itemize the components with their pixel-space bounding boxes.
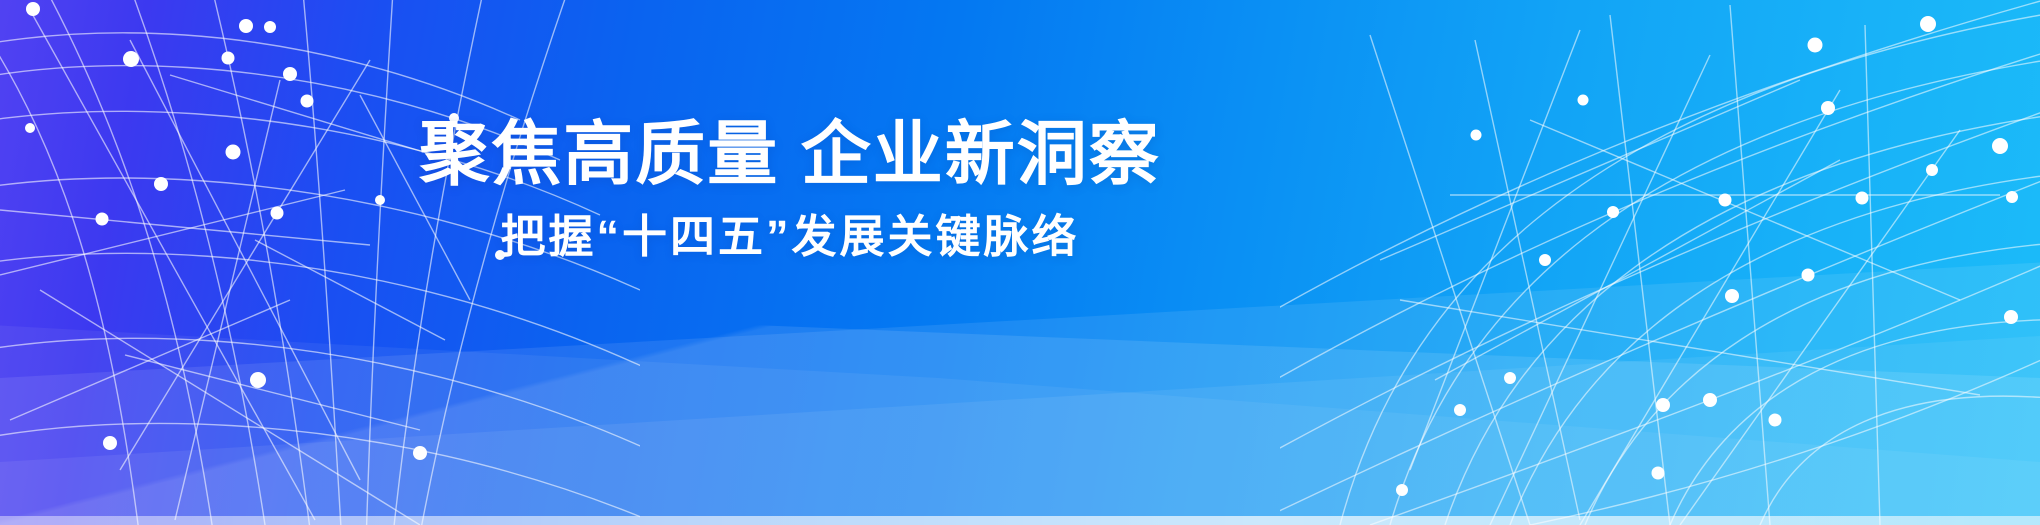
banner-subheadline: 把握“十四五”发展关键脉络 (0, 213, 1580, 260)
diagonal-light-sweep-d (0, 0, 2040, 525)
banner-headline: 聚焦高质量 企业新洞察 (0, 118, 1580, 191)
banner-copy: 聚焦高质量 企业新洞察 把握“十四五”发展关键脉络 (0, 118, 1580, 260)
diagonal-light-sweep-c (0, 0, 2040, 525)
diagonal-light-sweep-a (0, 0, 2040, 525)
hero-banner: 聚焦高质量 企业新洞察 把握“十四五”发展关键脉络 (0, 0, 2040, 525)
network-globe-right (1280, 0, 2040, 525)
diagonal-light-sweep-b (0, 0, 2040, 525)
bottom-light-strip (0, 516, 2040, 525)
network-globe-left (0, 0, 640, 525)
